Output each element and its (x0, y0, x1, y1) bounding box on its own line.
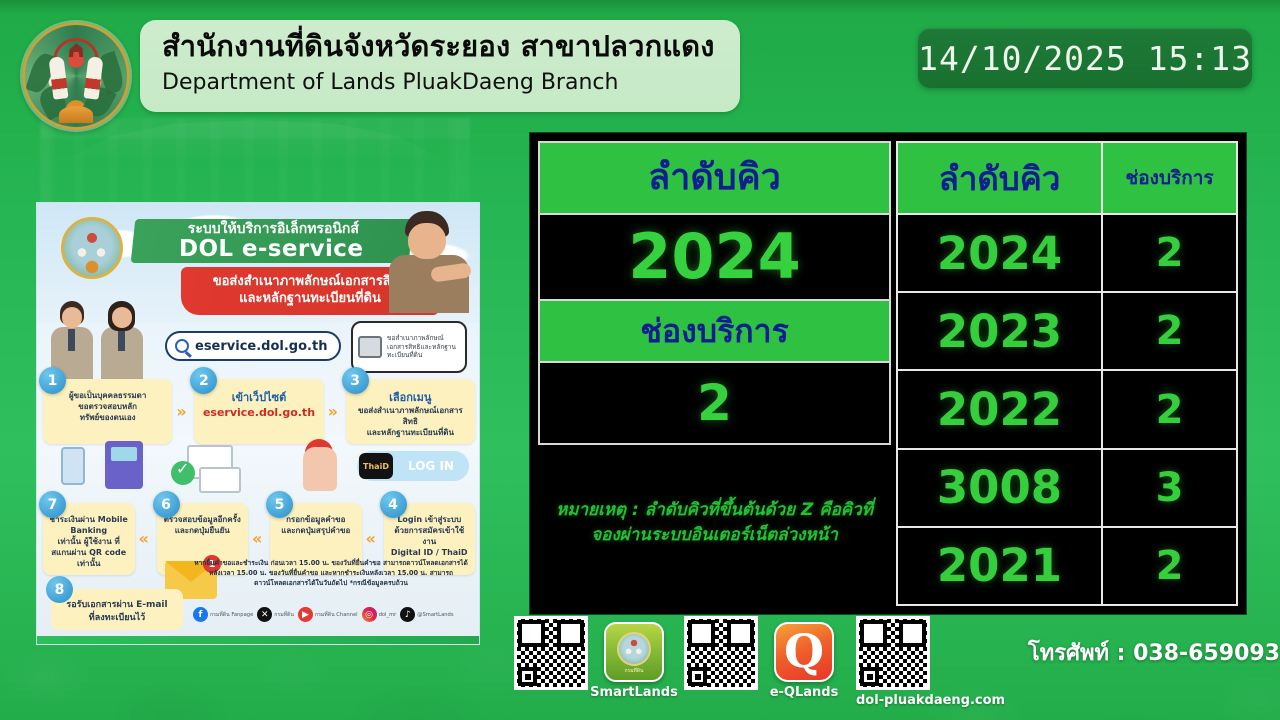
step-number: 3 (342, 367, 369, 394)
counter-cell: 3 (1103, 450, 1236, 526)
current-counter-value: 2 (697, 378, 732, 428)
counter-cell: 2 (1103, 371, 1236, 447)
x-twitter-icon: ✕ (257, 607, 272, 622)
chevron-left-icon: « (139, 531, 153, 547)
queue-number: 2024 (937, 231, 1062, 276)
step-text: และหลักฐานทะเบียนที่ดิน (351, 427, 470, 438)
poster-step-3: 3 เลือกเมนู ขอส่งสำเนาภาพลักษณ์เอกสารสิท… (346, 379, 475, 444)
datetime-text: 14/10/2025 15:13 (918, 39, 1252, 78)
social-instagram: ◎ dol_mr (362, 607, 397, 622)
login-label: LOG IN (393, 459, 469, 473)
social-label: dol_mr (379, 612, 397, 618)
website-label: dol-pluakdaeng.com (856, 693, 1005, 708)
step-number: 8 (46, 576, 73, 603)
queue-table-col-queue: ลำดับคิว (898, 143, 1103, 213)
step-text: Digital ID / ThaiD (389, 547, 471, 558)
website-qr-code[interactable] (856, 616, 930, 690)
step-number: 4 (380, 491, 407, 518)
counter-number: 2 (1156, 311, 1184, 351)
current-counter-label: ช่องบริการ (640, 315, 789, 347)
chevron-left-icon: « (252, 531, 266, 547)
current-queue-value: 2024 (628, 226, 801, 288)
queue-cell: 2022 (898, 371, 1103, 447)
step-text: เลือกเมนู (351, 390, 470, 405)
step-number: 5 (266, 491, 293, 518)
queue-cell: 2021 (898, 528, 1103, 604)
smartlands-app-icon[interactable]: กรมที่ดิน (604, 622, 664, 682)
queue-number: 2022 (937, 387, 1062, 432)
social-label: กรมที่ดิน Fanpage (210, 611, 253, 619)
eservice-poster: ระบบให้บริการอิเล็กทรอนิกส์ DOL e-servic… (36, 202, 480, 645)
step-text: ผู้ขอเป็นบุคคลธรรมดา (48, 390, 167, 401)
queue-cell: 2023 (898, 293, 1103, 369)
queue-number: 3008 (937, 465, 1062, 510)
poster-banner: ระบบให้บริการอิเล็กทรอนิกส์ DOL e-servic… (131, 219, 414, 263)
queue-board: ลำดับคิว 2024 ช่องบริการ 2 หมายเหตุ : ลำ… (530, 133, 1246, 614)
social-label: กรมที่ดิน Channel (315, 611, 358, 619)
step-number: 1 (39, 367, 66, 394)
queue-table-header: ลำดับคิว ช่องบริการ (898, 143, 1236, 215)
department-of-lands-seal-icon (22, 22, 130, 130)
counter-number: 2 (1156, 390, 1184, 430)
datetime-display: 14/10/2025 15:13 (918, 28, 1252, 88)
check-circle-icon (171, 461, 195, 485)
poster-menu-callout: ขอสำเนาภาพลักษณ์ เอกสารสิทธิและหลักฐาน ท… (351, 321, 467, 373)
instagram-icon: ◎ (362, 607, 377, 622)
step-number: 6 (153, 491, 180, 518)
poster-step-2: 2 เข้าเว็ปไซต์ eservice.dol.go.th (194, 379, 323, 444)
office-title-thai: สำนักงานที่ดินจังหวัดระยอง สาขาปลวกแดง (162, 26, 722, 67)
current-queue-value-cell: 2024 (538, 215, 891, 301)
mobile-phone-icon (61, 447, 85, 485)
social-x: ✕ กรมที่ดิน (257, 607, 294, 622)
poster-banner-english: DOL e-service (132, 237, 410, 261)
queue-column-header: ลำดับคิว (939, 162, 1061, 195)
poster-banner-thai: ระบบให้บริการอิเล็กทรอนิกส์ (134, 219, 412, 237)
queue-table: ลำดับคิว ช่องบริการ 2024 2 2023 2 202 (896, 141, 1238, 606)
poster-menu-callout-text: ขอสำเนาภาพลักษณ์ เอกสารสิทธิและหลักฐาน ท… (387, 334, 460, 360)
step-text: และกดปุ่มสรุปคำขอ (275, 525, 357, 536)
step-text: รอรับเอกสารผ่าน E-mail (55, 599, 179, 612)
login-button-illustration: ThaiD LOG IN (357, 451, 469, 481)
table-row: 2022 2 (898, 371, 1236, 449)
counter-cell: 2 (1103, 293, 1236, 369)
eqlands-qr-item (684, 616, 758, 690)
step-text: eservice.dol.go.th (199, 405, 318, 420)
counter-number: 2 (1156, 546, 1184, 586)
poster-citizens-illustration (47, 289, 153, 381)
form-icon (199, 467, 241, 493)
office-title-plate: สำนักงานที่ดินจังหวัดระยอง สาขาปลวกแดง D… (140, 20, 740, 112)
hand-pointer-icon (303, 447, 337, 491)
poster-illustration-row: ThaiD LOG IN (47, 441, 471, 497)
search-icon (175, 339, 189, 353)
website-qr-item: dol-pluakdaeng.com (856, 616, 1005, 708)
poster-social-row: f กรมที่ดิน Fanpage ✕ กรมที่ดิน ▶ กรมที่… (193, 607, 469, 622)
social-label: @SmartLands (417, 612, 453, 618)
poster-steps-row-1: 1 ผู้ขอเป็นบุคคลธรรมดา ขอตรวจสอบหลัก ทรั… (43, 379, 475, 444)
current-queue-label: ลำดับคิว (648, 160, 781, 196)
step-number: 7 (39, 491, 66, 518)
phone-number: โทรศัพท์ : 038-659093 (1028, 635, 1280, 694)
eqlands-app-item: Q e-QLands (758, 616, 850, 700)
office-title-english: Department of Lands PluakDaeng Branch (162, 69, 722, 97)
queue-note-text: หมายเหตุ : ลำดับคิวที่ขึ้นต้นด้วย Z คือค… (544, 498, 885, 547)
social-facebook: f กรมที่ดิน Fanpage (193, 607, 253, 622)
youtube-icon: ▶ (298, 607, 313, 622)
counter-cell: 2 (1103, 528, 1236, 604)
current-queue-panel: ลำดับคิว 2024 ช่องบริการ 2 หมายเหตุ : ลำ… (538, 141, 896, 606)
counter-cell: 2 (1103, 215, 1236, 291)
poster-footnote: หากยื่นคำขอและชำระเงิน ก่อนเวลา 15.00 น.… (193, 559, 469, 589)
atm-icon (105, 441, 143, 489)
eqlands-qr-code[interactable] (684, 616, 758, 690)
chevron-right-icon: » (328, 404, 342, 420)
current-counter-value-cell: 2 (538, 363, 891, 445)
counter-column-header: ช่องบริการ (1125, 169, 1213, 188)
eqlands-app-icon[interactable]: Q (774, 622, 834, 682)
facebook-icon: f (193, 607, 208, 622)
eqlands-glyph: Q (784, 631, 824, 672)
table-row: 2021 2 (898, 528, 1236, 604)
queue-cell: 3008 (898, 450, 1103, 526)
table-row: 3008 3 (898, 450, 1236, 528)
step-text: ที่ลงทะเบียนไว้ (55, 612, 179, 625)
smartlands-app-item: กรมที่ดิน SmartLands (588, 616, 680, 700)
current-queue-label-cell: ลำดับคิว (538, 141, 891, 215)
chevron-left-icon: « (366, 531, 380, 547)
poster-officer-illustration (383, 209, 475, 313)
step-text: เท่านั้น ผู้ใช้งาน ที่สแกนผ่าน QR code (48, 536, 130, 558)
step-text: และกดปุ่มยืนยัน (162, 525, 244, 536)
poster-subtitle-line1: ขอส่งสำเนาภาพลักษณ์เอกสารสิทธิ (213, 274, 408, 291)
smartlands-seal-icon (617, 632, 651, 666)
poster-step-1: 1 ผู้ขอเป็นบุคคลธรรมดา ขอตรวจสอบหลัก ทรั… (43, 379, 172, 444)
poster-url-pill: eservice.dol.go.th (165, 331, 341, 361)
step-text: ทรัพย์ของตนเอง (48, 412, 167, 423)
step-text: ด้วยการสมัครเข้าใช้งาน (389, 525, 471, 547)
chevron-right-icon: » (176, 404, 190, 420)
social-youtube: ▶ กรมที่ดิน Channel (298, 607, 358, 622)
current-counter-label-cell: ช่องบริการ (538, 301, 891, 363)
step-text: เข้าเว็ปไซต์ (199, 390, 318, 405)
step-text: เท่านั้น (48, 558, 130, 569)
table-row: 2024 2 (898, 215, 1236, 293)
queue-cell: 2024 (898, 215, 1103, 291)
smartlands-qr-item (514, 616, 588, 690)
eqlands-label: e-QLands (758, 685, 850, 700)
step-text: ขอตรวจสอบหลัก (48, 401, 167, 412)
poster-subtitle-line2: และหลักฐานทะเบียนที่ดิน (239, 291, 381, 308)
queue-table-col-counter: ช่องบริการ (1103, 143, 1236, 213)
footer-bar: กรมที่ดิน SmartLands Q e-QLands dol-plua… (500, 616, 1280, 712)
step-text: กรอกข้อมูลคำขอ (275, 514, 357, 525)
step-text: ชำระเงินผ่าน Mobile Banking (48, 514, 130, 536)
thaid-badge: ThaiD (359, 453, 393, 479)
document-search-icon (358, 336, 382, 358)
table-row: 2023 2 (898, 293, 1236, 371)
counter-number: 2 (1156, 233, 1184, 273)
counter-number: 3 (1156, 468, 1184, 508)
poster-step-7: 7 ชำระเงินผ่าน Mobile Banking เท่านั้น ผ… (43, 503, 135, 575)
step-text: ขอส่งสำเนาภาพลักษณ์เอกสารสิทธิ (351, 405, 470, 427)
queue-number: 2021 (937, 543, 1062, 588)
tiktok-icon: ♪ (400, 607, 415, 622)
smartlands-label: SmartLands (588, 685, 680, 700)
smartlands-qr-code[interactable] (514, 616, 588, 690)
poster-url-text: eservice.dol.go.th (195, 339, 327, 354)
poster-step-8: 8 รอรับเอกสารผ่าน E-mail ที่ลงทะเบียนไว้ (51, 589, 183, 630)
queue-number: 2023 (937, 309, 1062, 354)
page-header: สำนักงานที่ดินจังหวัดระยอง สาขาปลวกแดง D… (0, 0, 1280, 126)
social-tiktok: ♪ @SmartLands (400, 607, 453, 622)
queue-note-area: หมายเหตุ : ลำดับคิวที่ขึ้นต้นด้วย Z คือค… (538, 445, 891, 606)
poster-seal-icon (61, 217, 123, 279)
smartlands-app-caption: กรมที่ดิน (606, 668, 662, 675)
social-label: กรมที่ดิน (274, 611, 294, 619)
poster-bottom-bar (37, 636, 479, 644)
